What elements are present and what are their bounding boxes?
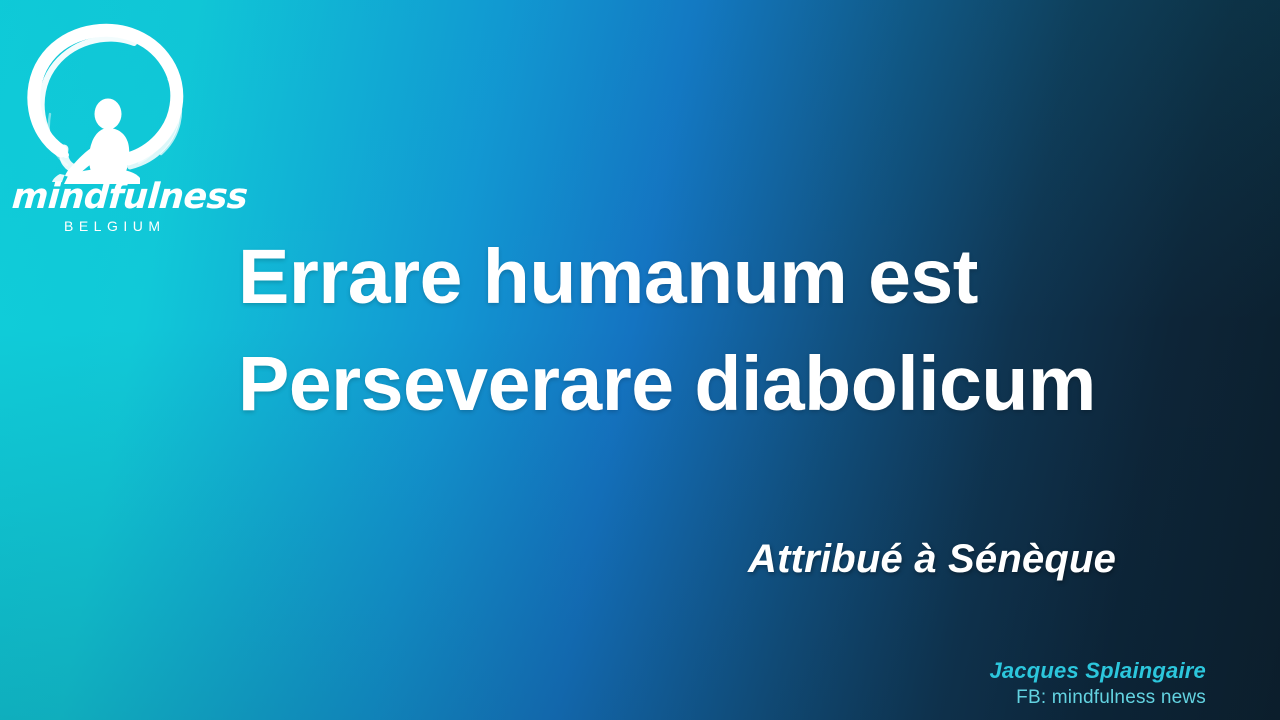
logo-wordmark: mindfulness BELGIUM (12, 178, 212, 235)
enso-circle-meditating-figure-icon (20, 18, 196, 186)
credit-social-handle: FB: mindfulness news (989, 685, 1206, 711)
credit-block: Jacques Splaingaire FB: mindfulness news (989, 657, 1206, 711)
credit-author: Jacques Splaingaire (989, 657, 1206, 685)
mindfulness-belgium-logo: mindfulness BELGIUM (12, 18, 212, 233)
quote-line-2: Perseverare diabolicum (238, 331, 1158, 438)
quote-slide: mindfulness BELGIUM Errare humanum est P… (0, 0, 1280, 720)
quote-block: Errare humanum est Perseverare diabolicu… (238, 224, 1158, 438)
quote-line-1: Errare humanum est (238, 224, 1158, 331)
logo-region-text: BELGIUM (12, 217, 212, 235)
quote-attribution: Attribué à Sénèque (748, 532, 1116, 586)
logo-brand-text: mindfulness (11, 178, 214, 216)
